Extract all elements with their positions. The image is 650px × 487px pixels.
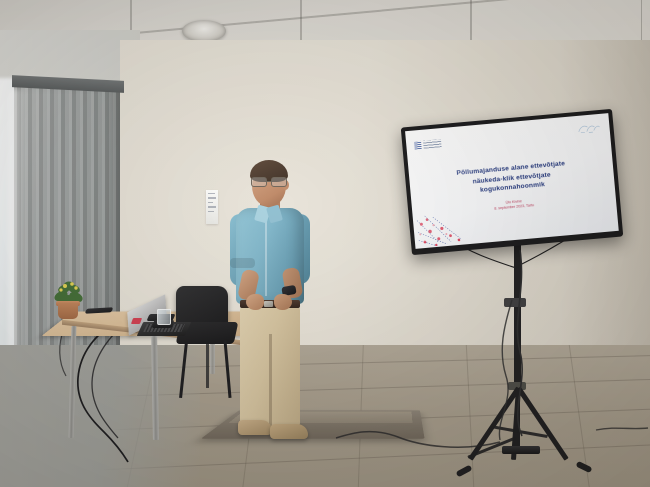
belt-buckle [264,301,273,307]
drinking-glass [157,309,171,325]
plant-pot [58,303,78,319]
slide-title: Põllumajanduse alane ettevõtjate näukeda… [421,157,602,200]
dotted-network-graphic [415,210,474,249]
shirt-sleeve-hem [230,258,255,268]
ministry-logo [414,139,442,149]
presenter-hand-left [246,294,264,310]
presenter [222,158,318,448]
trouser-seam [269,334,272,426]
presenter-hand-right [274,294,292,310]
presentation-slide: Põllumajanduse alane ettevõtjate näukeda… [405,113,619,249]
eyeglasses-icon [251,177,287,186]
chair-leg [206,344,209,388]
anniversary-mark-icon [576,122,601,135]
cables-overlay [0,0,650,487]
flat-screen-display: Põllumajanduse alane ettevõtjate näukeda… [401,109,624,255]
photo-scene: Põllumajanduse alane ettevõtjate näukeda… [0,0,650,487]
presenter-shoe-right [270,424,308,439]
presenter-shoe-left [238,420,272,435]
shirt-placket [265,218,267,296]
